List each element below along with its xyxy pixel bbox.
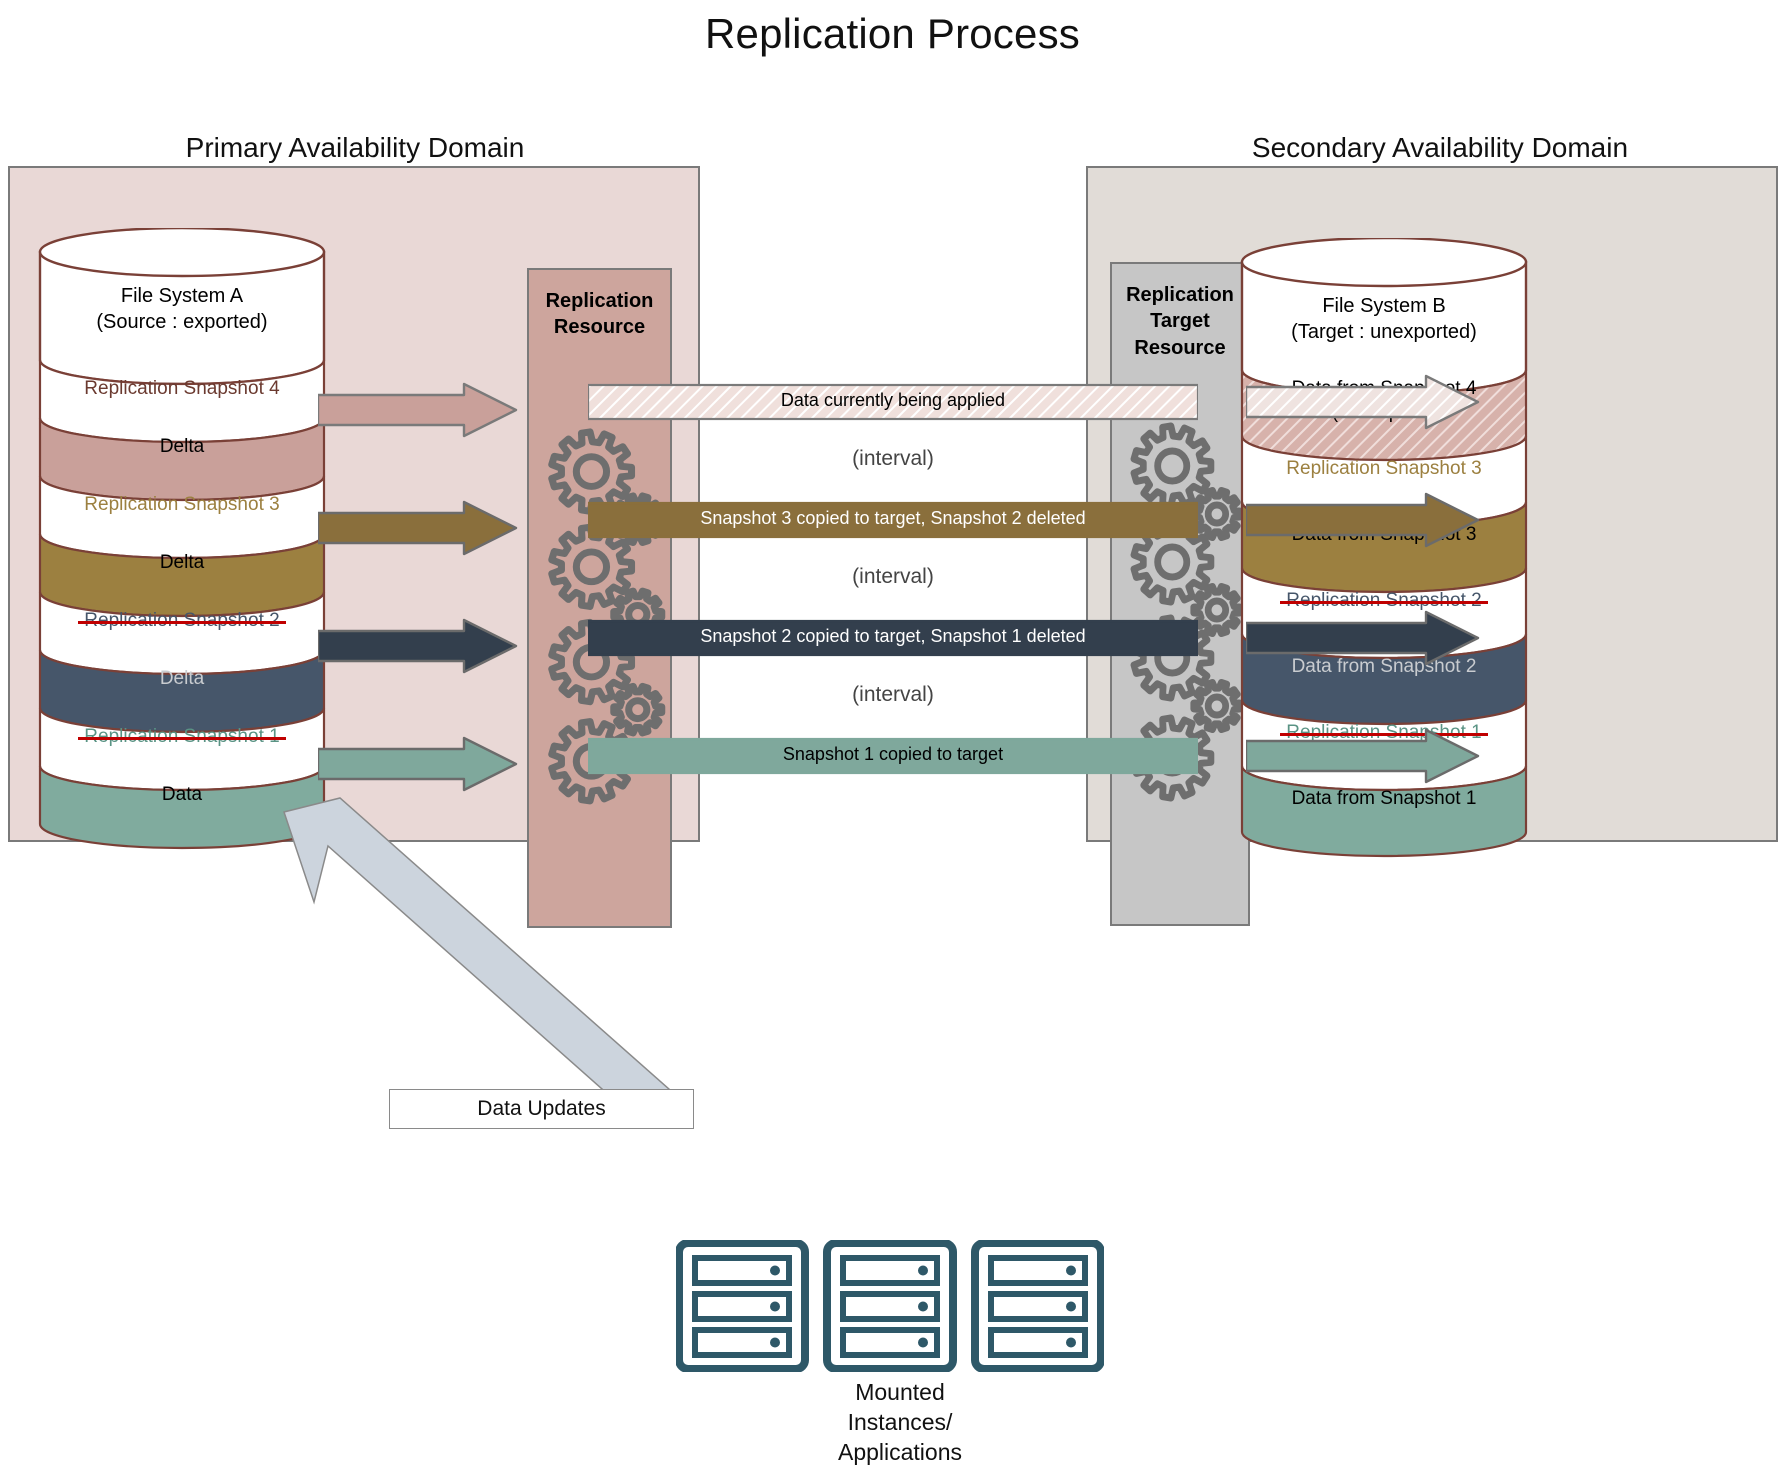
interval-1: (interval): [588, 447, 1198, 471]
file-system-a-cylinder[interactable]: File System A(Source : exported)Replicat…: [38, 228, 326, 856]
mounted-instances-group[interactable]: [676, 1240, 1121, 1370]
replication-resource-label: Replication Resource: [529, 288, 670, 341]
primary-domain-title: Primary Availability Domain: [10, 132, 700, 164]
flow-snapshot-1-label: Snapshot 1 copied to target: [588, 744, 1198, 765]
source-arrow-group: [318, 380, 533, 800]
replication-resource-label-line1: Replication: [546, 290, 654, 312]
rtr-label-line3: Resource: [1134, 337, 1225, 359]
data-updates-label: Data Updates: [477, 1097, 605, 1121]
flow-snapshot-2-label: Snapshot 2 copied to target, Snapshot 1 …: [588, 626, 1198, 647]
replication-resource-label-line2: Resource: [554, 316, 645, 338]
rtr-label-line1: Replication: [1126, 284, 1234, 306]
interval-3: (interval): [588, 683, 1198, 707]
page-title: Replication Process: [0, 10, 1785, 58]
mounted-instances-caption: Mounted Instances/ Applications: [790, 1378, 1010, 1468]
mounted-caption-line2: Instances/: [848, 1409, 953, 1435]
center-flow-group: Data currently being applied(interval)Sn…: [588, 372, 1198, 792]
data-updates-arrow: [270, 790, 690, 1130]
mounted-caption-line3: Applications: [838, 1439, 962, 1465]
secondary-domain-title: Secondary Availability Domain: [1060, 132, 1785, 164]
interval-2: (interval): [588, 565, 1198, 589]
flow-snapshot-3-label: Snapshot 3 copied to target, Snapshot 2 …: [588, 508, 1198, 529]
target-arrow-group: [1246, 372, 1496, 792]
data-updates-label-box: Data Updates: [389, 1089, 694, 1129]
rtr-label-line2: Target: [1150, 310, 1210, 332]
flow-snapshot-4-label: Data currently being applied: [588, 390, 1198, 411]
replication-target-resource-label: Replication Target Resource: [1112, 282, 1248, 361]
mounted-caption-line1: Mounted: [855, 1379, 945, 1405]
